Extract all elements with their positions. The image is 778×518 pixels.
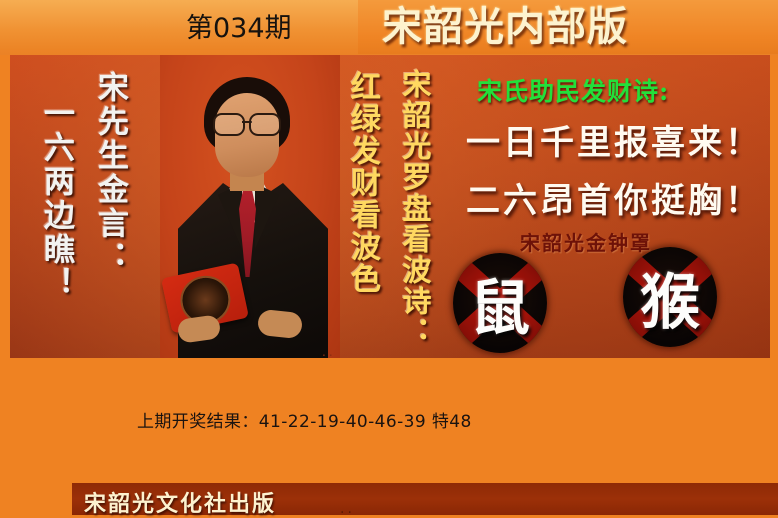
issue-number-label: 第034期 (186, 14, 292, 44)
zodiac-monkey-badge: 猴 (623, 247, 717, 347)
poem-heading: 宋氏助民发财诗: (477, 72, 669, 108)
vertical-text-compass-wave-poem: 宋韶光罗盘看波诗： (394, 69, 436, 348)
zodiac-rat-character: 鼠 (453, 253, 547, 353)
vertical-text-mr-song-golden-words: 宋先生金言： (88, 71, 133, 275)
footer-band: 宋韶光文化社出版 .. (72, 483, 778, 515)
vertical-text-red-green-wealth: 红绿发财看波色 (340, 71, 384, 295)
page-root: 第034期 宋韶光内部版 一六两边瞧！ 宋先生金言： 红绿 (0, 0, 778, 515)
previous-draw-result: 上期开奖结果：41-22-19-40-46-39 特48 (137, 407, 472, 432)
publisher-label: 宋韶光文化社出版 (84, 486, 276, 518)
zodiac-monkey-character: 猴 (623, 247, 717, 347)
zodiac-rat-badge: 鼠 (453, 253, 547, 353)
page-title: 宋韶光内部版 (382, 3, 712, 51)
poem-line-1: 一日千里报喜来！ (466, 115, 762, 164)
banner-watermark-dots: .. (322, 345, 336, 358)
header-bar: 第034期 宋韶光内部版 (0, 0, 778, 55)
header-left-gradient (0, 0, 358, 50)
fengshui-master-portrait (160, 55, 340, 358)
poem-line-2: 二六昂首你挺胸！ (466, 173, 762, 222)
main-banner: 一六两边瞧！ 宋先生金言： 红绿发财看波色 宋韶光罗盘看波诗： 宋氏助民发财诗:… (10, 55, 770, 358)
glasses-icon (212, 113, 282, 133)
vertical-text-one-six-both-sides: 一六两边瞧！ (34, 97, 79, 301)
